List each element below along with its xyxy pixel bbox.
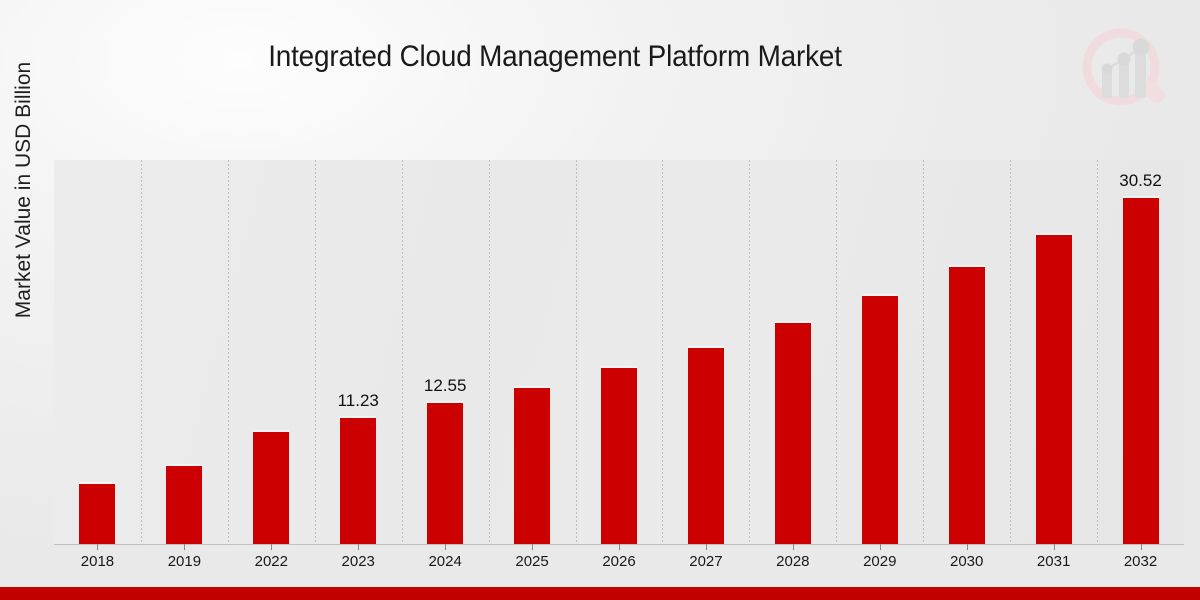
bar-slot [576, 160, 663, 544]
x-tick-label-2028: 2028 [776, 553, 809, 570]
bar-slot [228, 160, 315, 544]
magnifier-bar-chart-logo-icon [1074, 22, 1178, 122]
x-tick-label-2022: 2022 [255, 553, 288, 570]
x-tick-mark [97, 544, 98, 550]
plot-area: 11.2312.5530.52 [54, 160, 1184, 545]
x-tick-mark [793, 544, 794, 550]
x-tick-label-2019: 2019 [168, 553, 201, 570]
y-axis-title: Market Value in USD Billion [12, 0, 36, 380]
x-tick-mark [358, 544, 359, 550]
x-tick-mark [967, 544, 968, 550]
x-tick-mark [184, 544, 185, 550]
bar-slot [141, 160, 228, 544]
bar-slot [662, 160, 749, 544]
x-tick-label-2025: 2025 [515, 553, 548, 570]
bar-2022[interactable] [253, 430, 289, 544]
bar-2026[interactable] [601, 366, 637, 544]
x-tick-label-2032: 2032 [1124, 553, 1157, 570]
bar-2018[interactable] [79, 482, 115, 544]
x-tick-label-2027: 2027 [689, 553, 722, 570]
bar-2027[interactable] [688, 346, 724, 544]
bar-2025[interactable] [514, 386, 550, 544]
bar-slot [749, 160, 836, 544]
bar-slot: 11.23 [315, 160, 402, 544]
x-tick-mark [271, 544, 272, 550]
x-tick-mark [532, 544, 533, 550]
bar-slot [836, 160, 923, 544]
bar-2023[interactable] [340, 416, 376, 544]
x-tick-mark [1141, 544, 1142, 550]
bar-slot [489, 160, 576, 544]
x-tick-label-2030: 2030 [950, 553, 983, 570]
x-tick-mark [880, 544, 881, 550]
x-tick-label-2024: 2024 [428, 553, 461, 570]
x-tick-label-2031: 2031 [1037, 553, 1070, 570]
bar-slot [1010, 160, 1097, 544]
chart-figure: Integrated Cloud Management Platform Mar… [0, 0, 1200, 600]
x-tick-mark [445, 544, 446, 550]
bar-slot [923, 160, 1010, 544]
footer-band [0, 587, 1200, 600]
bar-2032[interactable] [1123, 196, 1159, 544]
x-tick-mark [706, 544, 707, 550]
bar-slot: 30.52 [1097, 160, 1184, 544]
x-tick-label-2018: 2018 [81, 553, 114, 570]
bar-2029[interactable] [862, 294, 898, 544]
bar-slot: 12.55 [402, 160, 489, 544]
bar-2019[interactable] [166, 464, 202, 544]
bar-2031[interactable] [1036, 233, 1072, 544]
bar-slot [54, 160, 141, 544]
x-tick-mark [1054, 544, 1055, 550]
page-title: Integrated Cloud Management Platform Mar… [39, 40, 1071, 74]
x-tick-mark [619, 544, 620, 550]
x-tick-label-2023: 2023 [342, 553, 375, 570]
bar-value-label-2024: 12.55 [424, 376, 467, 396]
x-tick-label-2026: 2026 [602, 553, 635, 570]
bar-value-label-2023: 11.23 [338, 391, 379, 411]
bar-2030[interactable] [949, 265, 985, 544]
x-tick-label-2029: 2029 [863, 553, 896, 570]
bar-value-label-2032: 30.52 [1119, 171, 1162, 191]
bar-2028[interactable] [775, 321, 811, 544]
bar-2024[interactable] [427, 401, 463, 544]
